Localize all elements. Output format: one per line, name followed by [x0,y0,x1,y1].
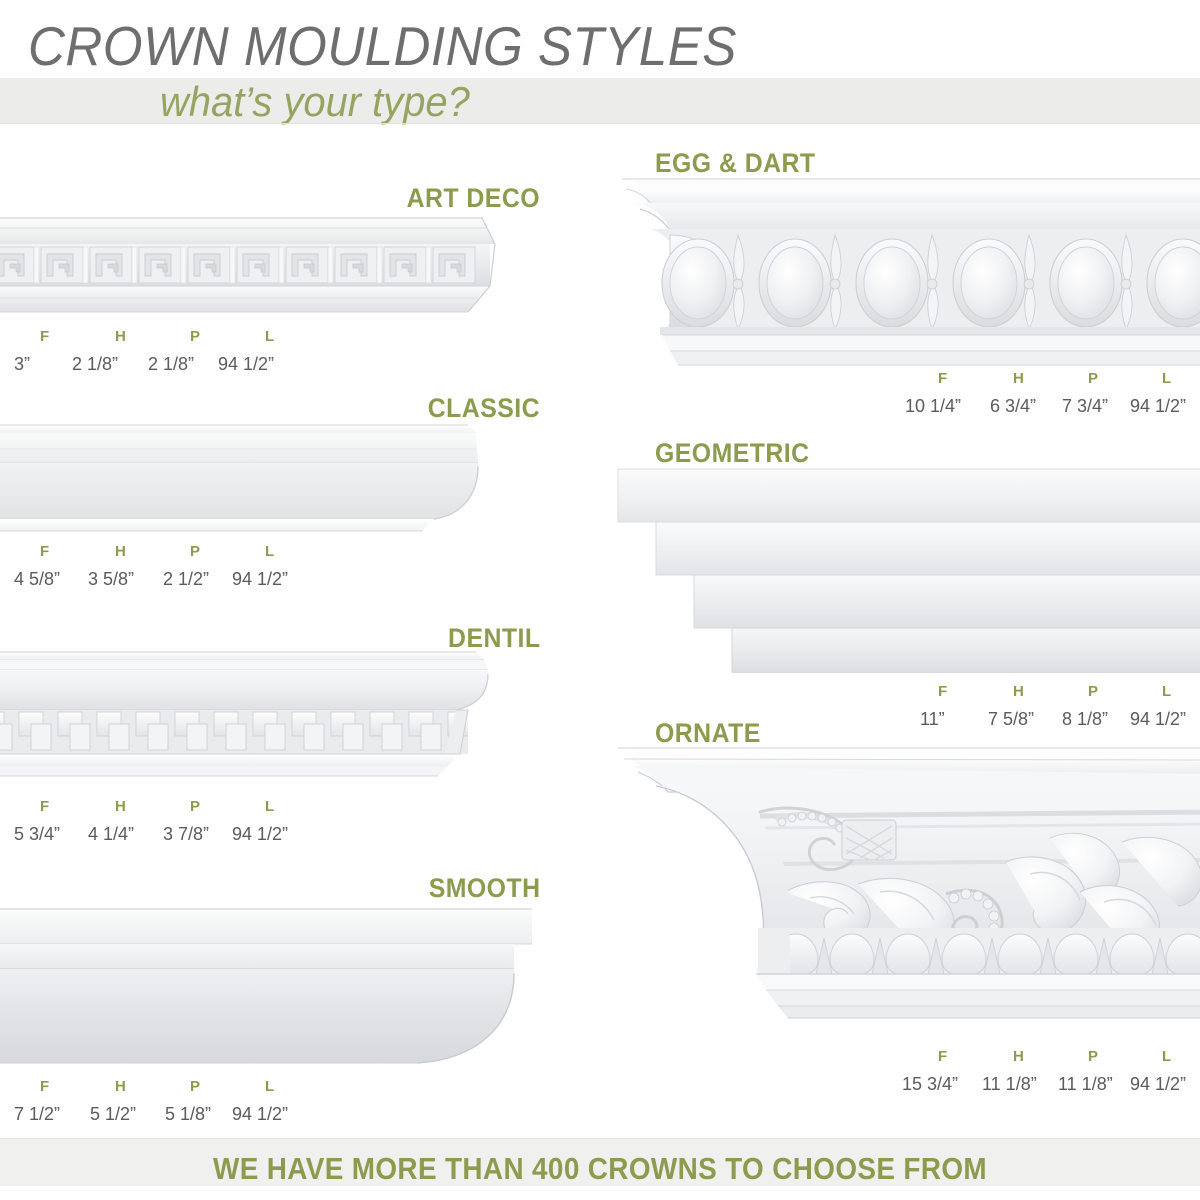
dim-value-p: 3 7/8” [163,824,209,845]
moulding-art-dentil [0,648,510,798]
dim-value-p: 5 1/8” [165,1104,211,1125]
dim-value-f: 7 1/2” [14,1104,60,1125]
moulding-art-geometric [610,463,1200,673]
dim-value-h: 4 1/4” [88,824,134,845]
dim-header-f: F [40,798,50,815]
dim-header-l: L [265,1078,275,1095]
dim-header-p: P [190,1078,201,1095]
dimensions-classic: F H P L 4 5/8” 3 5/8” 2 1/2” 94 1/2” [0,543,600,605]
dim-value-l: 94 1/2” [1130,709,1186,730]
left-column: ART DECO [0,128,600,1138]
moulding-art-ornate [610,742,1200,1042]
moulding-art-smooth [0,901,550,1071]
dimensions-ornate: F H P L 15 3/4” 11 1/8” 11 1/8” 94 1/2” [600,1048,1200,1110]
dim-header-f: F [938,370,948,387]
dim-header-f: F [938,1048,948,1065]
dim-header-p: P [190,798,201,815]
dim-header-h: H [1013,1048,1024,1065]
dim-header-l: L [265,328,275,345]
dim-value-l: 94 1/2” [232,1104,288,1125]
moulding-art-classic [0,419,510,539]
dim-value-h: 5 1/2” [90,1104,136,1125]
dim-header-l: L [1162,683,1172,700]
dimensions-egg-and-dart: F H P L 10 1/4” 6 3/4” 7 3/4” 94 1/2” [600,370,1200,432]
dim-header-f: F [938,683,948,700]
footer-text: WE HAVE MORE THAN 400 CROWNS TO CHOOSE F… [60,1151,1140,1187]
dim-header-h: H [115,1078,126,1095]
section-title-smooth: SMOOTH [428,873,540,904]
dim-value-f: 10 1/4” [905,396,961,417]
dim-header-l: L [1162,370,1172,387]
dim-header-l: L [265,543,275,560]
dimensions-art-deco: F H P L 3” 2 1/8” 2 1/8” 94 1/2” [0,328,600,390]
dim-value-p: 2 1/8” [148,354,194,375]
moulding-art-art-deco [0,208,510,323]
dim-value-f: 3” [14,354,30,375]
infographic-page: CROWN MOULDING STYLES what’s your type? … [0,0,1200,1200]
dim-header-f: F [40,328,50,345]
header-divider [0,123,1200,124]
dim-value-p: 7 3/4” [1062,396,1108,417]
dim-header-h: H [1013,683,1024,700]
dim-value-f: 5 3/4” [14,824,60,845]
dim-value-h: 2 1/8” [72,354,118,375]
dim-value-h: 11 1/8” [982,1074,1037,1095]
dim-header-h: H [115,543,126,560]
dim-value-f: 15 3/4” [902,1074,958,1095]
dim-header-p: P [1088,1048,1099,1065]
dim-value-h: 3 5/8” [88,569,134,590]
dim-value-l: 94 1/2” [218,354,274,375]
dim-header-f: F [40,1078,50,1095]
dim-header-h: H [115,328,126,345]
page-header: CROWN MOULDING STYLES what’s your type? [0,0,1200,128]
dim-header-p: P [190,328,201,345]
dim-header-h: H [115,798,126,815]
dim-value-l: 94 1/2” [1130,1074,1186,1095]
dim-value-l: 94 1/2” [232,569,288,590]
dimensions-smooth: F H P L 7 1/2” 5 1/2” 5 1/8” 94 1/2” [0,1078,600,1140]
dim-value-l: 94 1/2” [1130,396,1186,417]
dim-value-p: 8 1/8” [1062,709,1108,730]
page-title: CROWN MOULDING STYLES [28,14,737,78]
dim-header-p: P [1088,683,1099,700]
dim-value-p: 2 1/2” [163,569,209,590]
dim-value-l: 94 1/2” [232,824,288,845]
dim-value-h: 6 3/4” [990,396,1036,417]
dim-value-p: 11 1/8” [1058,1074,1113,1095]
dim-header-p: P [1088,370,1099,387]
dim-header-f: F [40,543,50,560]
right-column: EGG & DART [600,128,1200,1138]
dim-value-f: 4 5/8” [14,569,60,590]
dimensions-dentil: F H P L 5 3/4” 4 1/4” 3 7/8” 94 1/2” [0,798,600,860]
page-subtitle: what’s your type? [160,78,470,126]
dim-value-f: 11” [920,709,945,730]
dim-header-l: L [265,798,275,815]
dim-header-l: L [1162,1048,1172,1065]
dim-header-h: H [1013,370,1024,387]
dim-header-p: P [190,543,201,560]
footer-bottom-strip [0,1186,1200,1200]
dim-value-h: 7 5/8” [988,709,1034,730]
